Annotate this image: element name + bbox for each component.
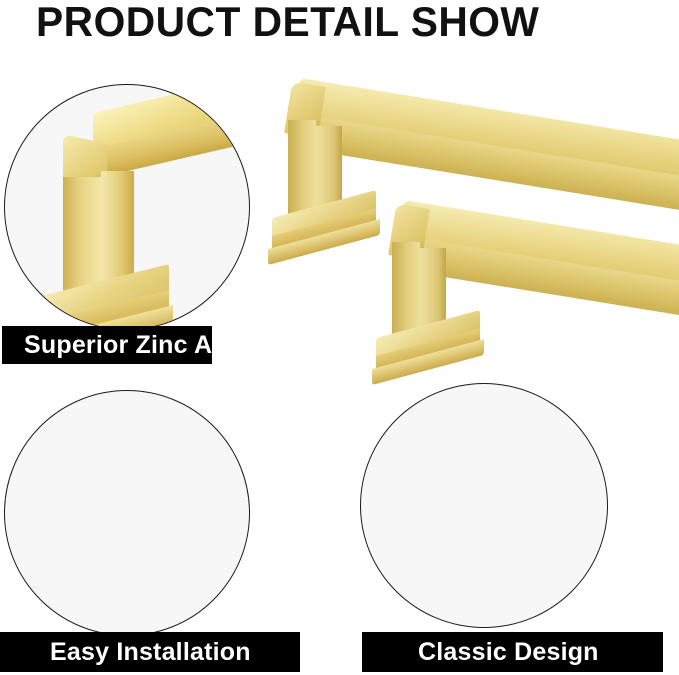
feature-image-installation [4,390,250,636]
feature-label-installation: Easy Installation [0,632,300,672]
feature-label-zinc: Superior Zinc Alloy [2,326,212,364]
handle-post-left [392,242,420,338]
feature-image-classic [360,383,608,628]
pull-post-left [63,177,101,299]
page-title: PRODUCT DETAIL SHOW [36,0,628,48]
feature-image-zinc [4,84,250,330]
feature-label-classic: Classic Design [362,632,663,672]
handle-post-left [288,120,316,218]
